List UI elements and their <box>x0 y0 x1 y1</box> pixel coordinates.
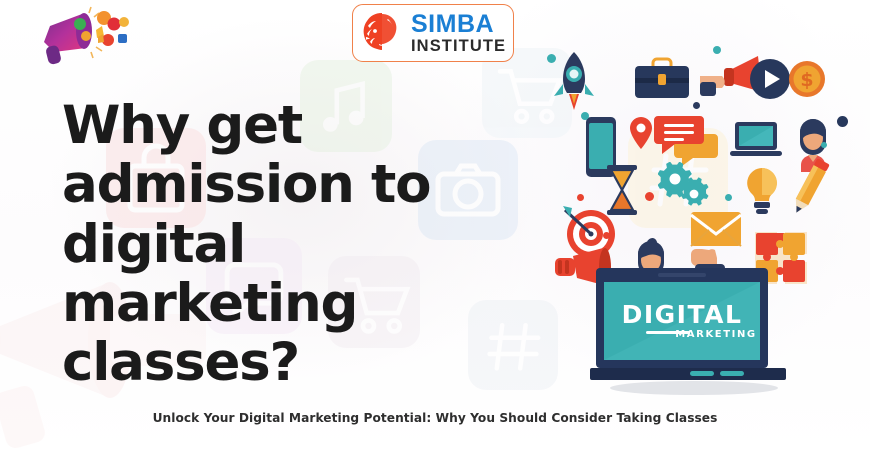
lion-head-icon <box>358 9 406 57</box>
accent-dot <box>603 232 610 239</box>
dollar-coin-icon: $ <box>788 60 826 98</box>
accent-dot <box>577 194 584 201</box>
accent-dot <box>725 194 732 201</box>
laptop-screen-subtitle: MARKETING <box>675 329 757 340</box>
laptop-illustration: DIGITAL MARKETING <box>590 268 786 396</box>
laptop-small-icon <box>730 120 782 160</box>
headline-line-3: digital marketing <box>62 215 532 334</box>
subtitle-caption: Unlock Your Digital Marketing Potential:… <box>0 411 870 425</box>
headline-line-2: admission to <box>62 155 532 214</box>
rocket-icon <box>551 50 597 112</box>
accent-dot <box>645 192 654 201</box>
marketing-icon-cluster: $ <box>545 44 870 294</box>
speech-bubble-icon <box>653 114 705 158</box>
megaphone-social-icon <box>36 4 142 66</box>
page-title: Why get admission to digital marketing c… <box>62 96 532 393</box>
pencil-icon <box>787 156 833 218</box>
accent-dot <box>693 102 700 109</box>
accent-dot <box>821 142 827 148</box>
play-button-icon <box>749 58 791 100</box>
gears-icon <box>658 162 716 212</box>
headline-line-4: classes? <box>62 333 532 392</box>
accent-dot <box>581 112 589 120</box>
accent-dot <box>713 46 721 54</box>
laptop-screen-title: DIGITAL <box>622 300 743 329</box>
poster-canvas: SIMBA INSTITUTE Why get admission to dig… <box>0 0 870 457</box>
location-pin-icon <box>629 116 653 150</box>
accent-dot <box>547 54 556 63</box>
headline-line-1: Why get <box>62 96 532 155</box>
svg-text:$: $ <box>800 69 813 91</box>
simba-institute-logo[interactable]: SIMBA INSTITUTE <box>352 4 514 62</box>
logo-secondary-text: INSTITUTE <box>411 38 506 55</box>
accent-dot <box>837 116 848 127</box>
lightbulb-icon <box>742 166 782 218</box>
briefcase-icon <box>633 56 691 100</box>
logo-primary-text: SIMBA <box>411 12 506 37</box>
